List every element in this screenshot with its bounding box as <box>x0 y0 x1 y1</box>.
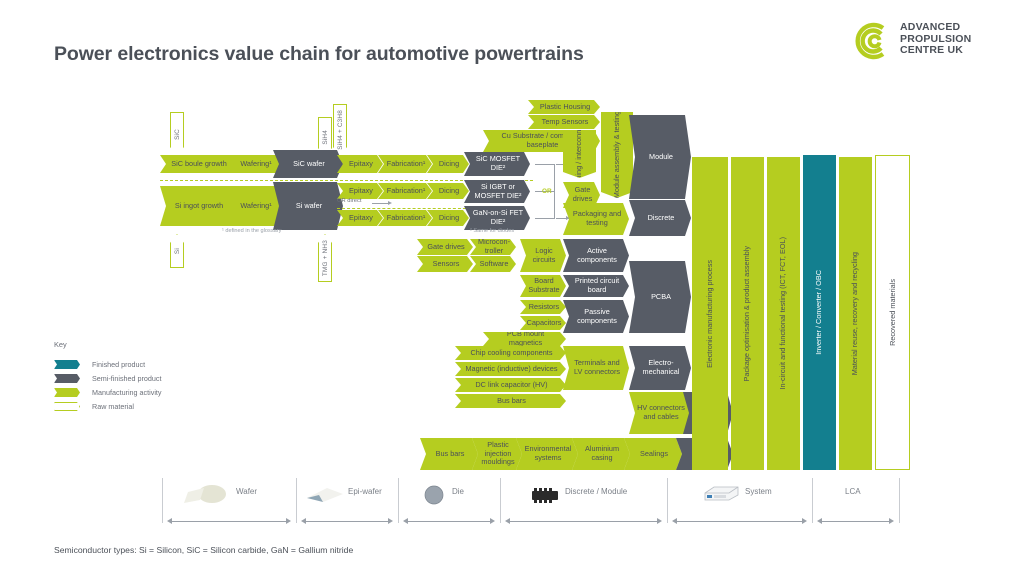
wafer-ingot-icon <box>178 484 230 506</box>
step-epitaxy-gan[interactable]: Epitaxy <box>337 210 383 226</box>
step-epitaxy-si[interactable]: Epitaxy <box>337 183 383 199</box>
or-direct-line <box>372 203 389 204</box>
stage-terminals-lv-connectors[interactable]: Terminals and LV connectors <box>563 346 629 390</box>
key-item-raw-material: Raw material <box>54 402 134 411</box>
axis-separator <box>162 478 163 523</box>
key-label-raw-material: Raw material <box>92 402 134 411</box>
product-gan-on-si-fet-die[interactable]: GaN-on-Si FET DIE² <box>464 206 530 230</box>
step-sic-boule-growth[interactable]: SiC boule growth <box>160 155 236 173</box>
input-temp-sensors[interactable]: Temp Sensors <box>528 115 600 129</box>
product-sic-mosfet-die[interactable]: SiC MOSFET DIE² <box>464 152 530 176</box>
column-in-circuit-functional-testing[interactable]: In-circuit and functional testing (ICT, … <box>767 157 800 470</box>
key-swatch-raw-material <box>54 402 80 411</box>
axis-range-lca <box>817 518 894 525</box>
step-si-ingot-growth[interactable]: Si ingot growth <box>160 186 236 226</box>
key-item-finished-product: Finished product <box>54 360 145 369</box>
step-wafering-sic[interactable]: Wafering¹ <box>228 155 282 173</box>
axis-label-system: System <box>745 487 772 496</box>
axis-separator <box>899 478 900 523</box>
input-plastic-housing[interactable]: Plastic Housing <box>528 100 600 114</box>
connector-gan-die <box>535 218 555 219</box>
axis-separator <box>296 478 297 523</box>
step-fabrication-gan[interactable]: Fabrication¹ <box>378 210 432 226</box>
apc-logo: ADVANCED PROPULSION CENTRE UK <box>852 16 1002 66</box>
stage-logic-circuits[interactable]: Logic circuits <box>520 239 566 272</box>
axis-separator <box>398 478 399 523</box>
input-capacitors[interactable]: Capacitors <box>520 316 566 330</box>
stage-packaging-testing[interactable]: Packaging and testing <box>563 203 629 235</box>
raw-material-sic: SiC <box>170 112 184 156</box>
axis-range-epi-wafer <box>301 518 393 525</box>
apc-spiral-c-logo-icon <box>852 20 894 62</box>
step-dicing-sic[interactable]: Dicing <box>427 155 469 173</box>
step-fabrication-si[interactable]: Fabrication¹ <box>378 183 432 199</box>
step-fabrication-sic[interactable]: Fabrication¹ <box>378 155 432 173</box>
input-bus-bars-housing[interactable]: Bus bars <box>420 438 478 470</box>
input-software[interactable]: Software <box>470 256 516 272</box>
axis-label-die: Die <box>452 487 464 496</box>
raw-material-tmg-nh3: TMG + NH3 <box>318 234 332 282</box>
axis-separator <box>500 478 501 523</box>
key-label-finished-product: Finished product <box>92 360 145 369</box>
product-discrete[interactable]: Discrete <box>629 200 691 236</box>
input-dc-link-capacitor[interactable]: DC link capacitor (HV) <box>455 378 566 392</box>
connector-vert-top <box>554 164 555 191</box>
input-aluminium-casing[interactable]: Aluminium casing <box>572 438 630 470</box>
diagram-canvas: Power electronics value chain for automo… <box>0 0 1024 576</box>
product-si-wafer[interactable]: Si wafer <box>273 182 343 230</box>
key-label-semi-finished-product: Semi-finished product <box>92 374 162 383</box>
axis-label-lca: LCA <box>845 487 861 496</box>
logo-line-3: CENTRE UK <box>900 45 971 57</box>
input-board-substrate[interactable]: Board Substrate <box>520 275 566 297</box>
footnote-2: ² Same for diodes <box>470 228 514 234</box>
logo-line-1: ADVANCED <box>900 22 971 34</box>
step-dicing-gan[interactable]: Dicing <box>427 210 469 226</box>
connector-sic-die <box>535 164 555 165</box>
key-swatch-manufacturing-activity <box>54 388 80 397</box>
input-sensors[interactable]: Sensors <box>417 256 473 272</box>
footnote-1: ¹ defined in the glossary <box>222 228 281 234</box>
step-wafering-si[interactable]: Wafering¹ <box>228 186 282 226</box>
product-printed-circuit-board[interactable]: Printed circuit board <box>563 275 629 297</box>
input-resistors[interactable]: Resistors <box>520 300 566 314</box>
axis-range-die <box>403 518 495 525</box>
step-epitaxy-sic[interactable]: Epitaxy <box>337 155 383 173</box>
column-inverter-converter-obc[interactable]: Inverter / Converter / OBC <box>803 155 836 470</box>
input-chip-cooling-components[interactable]: Chip cooling components <box>455 346 566 360</box>
key-item-semi-finished-product: Semi-finished product <box>54 374 162 383</box>
key-swatch-finished-product <box>54 360 80 369</box>
input-environmental-systems[interactable]: Environmental systems <box>516 438 578 470</box>
axis-label-epi-wafer: Epi-wafer <box>348 487 382 496</box>
module-chip-icon <box>528 484 562 506</box>
input-pcb-mount-magnetics[interactable]: PCB mount magnetics <box>483 332 566 346</box>
product-electro-mechanical[interactable]: Electro-mechanical <box>629 346 691 390</box>
apc-logo-text: ADVANCED PROPULSION CENTRE UK <box>900 22 971 57</box>
product-passive-components[interactable]: Passive components <box>563 300 629 333</box>
key-swatch-semi-finished-product <box>54 374 80 383</box>
stage-module-assembly-testing[interactable]: Module assembly & testing <box>601 112 633 198</box>
product-si-igbt-mosfet-die[interactable]: Si IGBT or MOSFET DIE² <box>464 180 530 203</box>
connector-vert-bottom <box>554 191 555 218</box>
stage-joining-interconnect[interactable]: Joining / interconnect <box>563 130 596 178</box>
or-direct-label: OR direct <box>337 198 361 204</box>
key-title: Key <box>54 340 67 349</box>
key-label-manufacturing-activity: Manufacturing activity <box>92 388 162 397</box>
input-bus-bars-em[interactable]: Bus bars <box>455 394 566 408</box>
axis-range-system <box>672 518 807 525</box>
die-icon <box>423 484 445 506</box>
axis-separator <box>667 478 668 523</box>
step-dicing-si[interactable]: Dicing <box>427 183 469 199</box>
product-active-components[interactable]: Active components <box>563 239 629 272</box>
key-item-manufacturing-activity: Manufacturing activity <box>54 388 162 397</box>
column-recovered-materials[interactable]: Recovered materials <box>875 155 910 470</box>
axis-separator <box>812 478 813 523</box>
input-microcontroller[interactable]: Microcon-troller <box>470 239 516 255</box>
epi-wafer-icon <box>303 484 347 506</box>
page-title: Power electronics value chain for automo… <box>54 43 584 66</box>
product-pcba[interactable]: PCBA <box>629 261 691 333</box>
axis-range-discrete-module <box>505 518 662 525</box>
column-package-optimisation[interactable]: Package optimisation & product assembly <box>731 157 764 470</box>
input-hv-connectors-cables[interactable]: HV connectors and cables <box>629 392 691 434</box>
or-direct-arrow-icon <box>388 201 392 205</box>
input-magnetic-devices[interactable]: Magnetic (inductive) devices <box>455 362 566 376</box>
si-branch-divider <box>337 208 471 209</box>
or-branch-label: OR <box>542 188 552 195</box>
input-sealings[interactable]: Sealings <box>624 438 682 470</box>
inverter-system-icon <box>700 484 742 506</box>
product-module[interactable]: Module <box>629 115 691 199</box>
axis-range-wafer <box>167 518 291 525</box>
column-material-reuse-recovery-recycling[interactable]: Material reuse, recovery and recycling <box>839 157 872 470</box>
input-gate-drives-pcba[interactable]: Gate drives <box>417 239 473 255</box>
product-sic-wafer[interactable]: SiC wafer <box>273 150 343 178</box>
input-plastic-injection-mouldings[interactable]: Plastic injection mouldings <box>472 438 522 470</box>
column-electronic-manufacturing-process[interactable]: Electronic manufacturing process <box>692 157 728 470</box>
diagram-caption: Semiconductor types: Si = Silicon, SiC =… <box>54 545 353 555</box>
raw-material-sih4-c3h8: SiH4 + C3H8 <box>333 104 347 156</box>
axis-label-discrete-module: Discrete / Module <box>565 487 627 496</box>
raw-material-si: Si <box>170 234 184 268</box>
axis-label-wafer: Wafer <box>236 487 257 496</box>
